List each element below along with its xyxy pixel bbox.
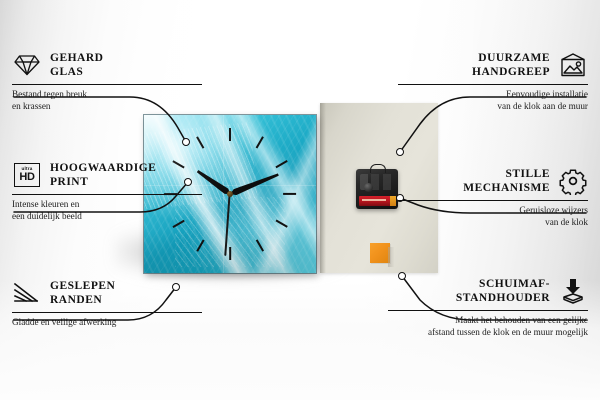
feature-title: STILLEMECHANISME xyxy=(463,167,550,195)
feature-header: ultra HD HOOGWAARDIGEPRINT xyxy=(12,160,202,190)
feature-description: Gladde en veilige afwerking xyxy=(12,317,202,329)
ultra-hd-icon: ultra HD xyxy=(12,160,42,190)
foam-spacer-pad xyxy=(370,243,390,263)
feature-description: Geruisloze wijzers van de klok xyxy=(398,205,588,228)
feature-rule xyxy=(12,84,202,85)
feature-schuimaf-standhouder: SCHUIMAF-STANDHOUDER Maakt het behouden … xyxy=(388,276,588,338)
clock-center-cap xyxy=(227,191,233,197)
feature-header: GESLEPENRANDEN xyxy=(12,278,202,308)
battery xyxy=(359,196,396,206)
clock-tick xyxy=(283,193,296,195)
feature-stille-mechanisme: STILLEMECHANISME Geruisloze wijzers van … xyxy=(398,166,588,228)
connector-dot-handle xyxy=(396,148,404,156)
feature-rule xyxy=(388,310,588,311)
picture-frame-icon xyxy=(558,50,588,80)
foam-pad-shadow xyxy=(388,247,394,267)
diamond-icon xyxy=(12,50,42,80)
feature-header: DUURZAMEHANDGREEP xyxy=(398,50,588,80)
feature-description: Intense kleuren en een duidelijk beeld xyxy=(12,199,202,222)
feature-title: HOOGWAARDIGEPRINT xyxy=(50,161,156,189)
feature-rule xyxy=(398,200,588,201)
feature-description: Bestand tegen breuk en krassen xyxy=(12,89,202,112)
gear-icon xyxy=(558,166,588,196)
ultra-hd-icon-large-label: HD xyxy=(19,172,34,183)
movement-hanger xyxy=(370,164,386,173)
feature-duurzame-handgreep: DUURZAMEHANDGREEP Eenvoudige installatie… xyxy=(398,50,588,112)
feature-header: SCHUIMAF-STANDHOUDER xyxy=(388,276,588,306)
feature-rule xyxy=(12,194,202,195)
clock-tick xyxy=(229,128,231,141)
clock-tick xyxy=(229,247,231,260)
movement-shaft xyxy=(364,183,373,192)
beveled-edges-icon xyxy=(12,278,42,308)
feature-title: GESLEPENRANDEN xyxy=(50,279,115,307)
feature-geslepen-randen: GESLEPENRANDEN Gladde en veilige afwerki… xyxy=(12,278,202,329)
feature-rule xyxy=(12,312,202,313)
connector-dot-glass xyxy=(182,138,190,146)
feature-description: Maakt het behouden van een gelijke afsta… xyxy=(388,315,588,338)
feature-title: DUURZAMEHANDGREEP xyxy=(472,51,550,79)
feature-title: SCHUIMAF-STANDHOUDER xyxy=(456,277,550,305)
feature-hoogwaardige-print: ultra HD HOOGWAARDIGEPRINT Intense kleur… xyxy=(12,160,202,222)
infographic-canvas: GEHARDGLAS Bestand tegen breuk en krasse… xyxy=(0,0,600,400)
feature-header: GEHARDGLAS xyxy=(12,50,202,80)
feature-header: STILLEMECHANISME xyxy=(398,166,588,196)
feature-rule xyxy=(398,84,588,85)
feature-title: GEHARDGLAS xyxy=(50,51,103,79)
back-panel-edge xyxy=(320,103,326,273)
down-arrow-onto-block-icon xyxy=(558,276,588,306)
feature-gehard-glas: GEHARDGLAS Bestand tegen breuk en krasse… xyxy=(12,50,202,112)
battery-label xyxy=(362,199,386,201)
clock-seam-vertical xyxy=(223,115,224,273)
clock-movement xyxy=(356,169,398,209)
feature-description: Eenvoudige installatie van de klok aan d… xyxy=(398,89,588,112)
